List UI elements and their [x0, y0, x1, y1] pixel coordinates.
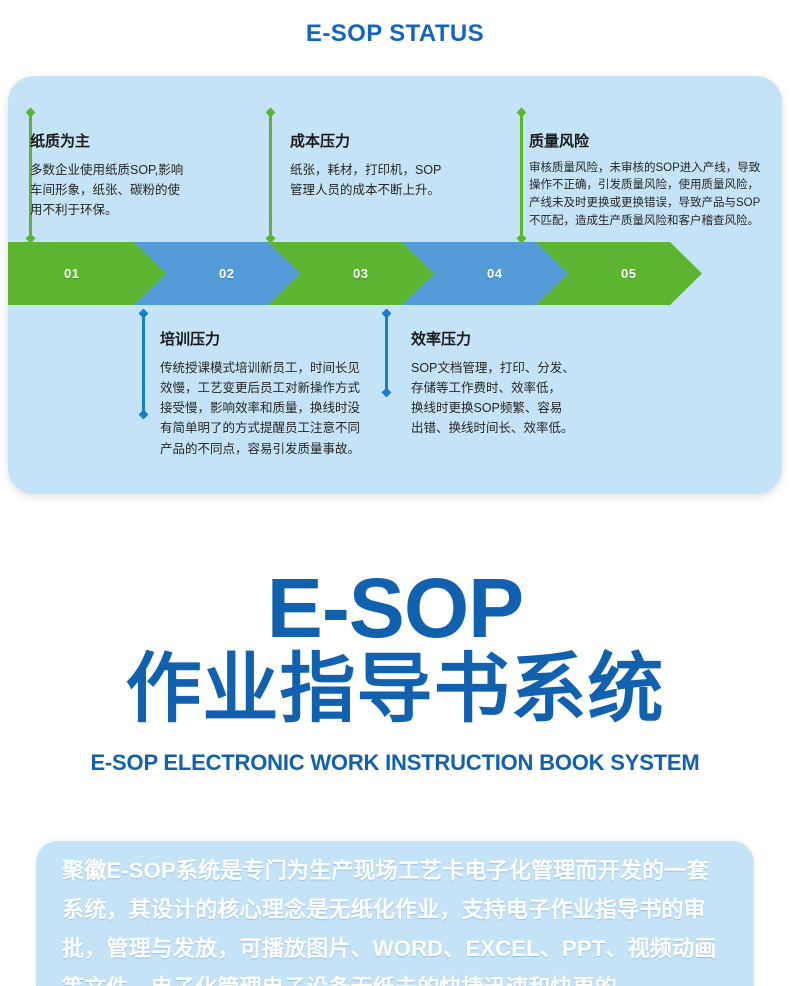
issue-block-training: 培训压力 传统授课模式培训新员工，时间长见 效慢，工艺变更后员工对新操作方式 接… [160, 332, 400, 459]
connector-line-02 [269, 109, 272, 242]
issue-title: 纸质为主 [30, 134, 245, 151]
chevron-number-01: 01 [64, 266, 79, 281]
chevron-number-02: 02 [219, 266, 234, 281]
issue-block-quality: 质量风险 审核质量风险，未审核的SOP进入产线，导致 操作不正确，引发质量风险，… [529, 134, 781, 231]
issue-title: 效率压力 [411, 332, 641, 349]
connector-line-04 [142, 310, 145, 418]
connector-line-03 [520, 109, 523, 242]
process-chevron-band: 01 02 03 04 05 [8, 242, 782, 305]
intro-panel: 聚徽E-SOP系统是专门为生产现场工艺卡电子化管理而开发的一套系统，其设计的核心… [36, 841, 754, 986]
connector-stem [269, 113, 272, 238]
hero-section: E-SOP 作业指导书系统 E-SOP ELECTRONIC WORK INST… [0, 568, 790, 776]
connector-cap-bottom [139, 410, 149, 420]
hero-subtitle: E-SOP ELECTRONIC WORK INSTRUCTION BOOK S… [0, 750, 790, 776]
connector-stem [142, 314, 145, 414]
issue-block-efficiency: 效率压力 SOP文档管理，打印、分发、 存储等工作费时、效率低， 换线时更换SO… [411, 332, 641, 439]
issue-body: 多数企业使用纸质SOP,影响 车间形象，纸张、碳粉的使 用不利于环保。 [30, 160, 245, 221]
issue-body: 纸张，耗材，打印机，SOP 管理人员的成本不断上升。 [290, 160, 510, 201]
issue-body: SOP文档管理，打印、分发、 存储等工作费时、效率低， 换线时更换SOP频繁、容… [411, 358, 641, 439]
issue-block-paper: 纸质为主 多数企业使用纸质SOP,影响 车间形象，纸张、碳粉的使 用不利于环保。 [30, 134, 245, 220]
connector-stem [520, 113, 523, 238]
issue-body: 审核质量风险，未审核的SOP进入产线，导致 操作不正确，引发质量风险，使用质量风… [529, 160, 781, 231]
issue-body: 传统授课模式培训新员工，时间长见 效慢，工艺变更后员工对新操作方式 接受慢，影响… [160, 358, 400, 459]
issue-title: 成本压力 [290, 134, 510, 151]
hero-title-cn: 作业指导书系统 [0, 651, 790, 729]
issue-title: 培训压力 [160, 332, 400, 349]
intro-paragraph: 聚徽E-SOP系统是专门为生产现场工艺卡电子化管理而开发的一套系统，其设计的核心… [36, 841, 754, 986]
status-card: 01 02 03 04 05 [8, 76, 782, 494]
chevron-number-05: 05 [621, 266, 636, 281]
section-title: E-SOP STATUS [0, 0, 790, 46]
issue-title: 质量风险 [529, 134, 781, 151]
hero-title-en: E-SOP [0, 568, 790, 649]
chevron-number-04: 04 [487, 266, 502, 281]
issue-block-cost: 成本压力 纸张，耗材，打印机，SOP 管理人员的成本不断上升。 [290, 134, 510, 200]
chevron-number-03: 03 [353, 266, 368, 281]
chevron-step-01[interactable]: 01 [8, 242, 166, 305]
